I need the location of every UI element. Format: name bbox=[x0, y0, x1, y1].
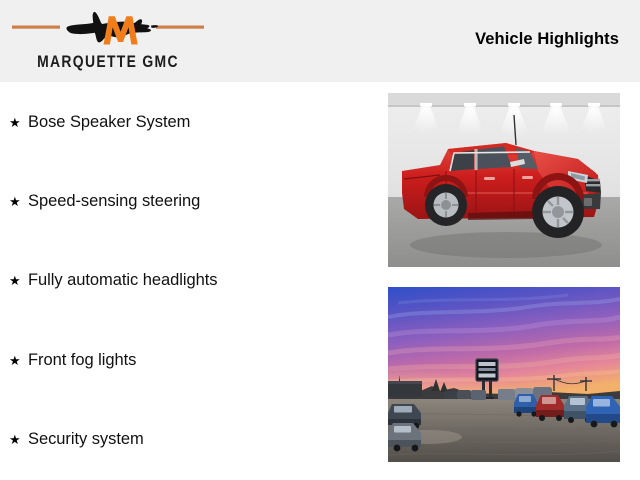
red-pickup-truck-studio-photo[interactable] bbox=[388, 93, 620, 267]
list-item: ★ Bose Speaker System bbox=[9, 110, 190, 134]
page-header: MARQUETTE GMC Vehicle Highlights bbox=[0, 0, 640, 82]
michigan-upper-peninsula-with-m-logo bbox=[8, 4, 208, 52]
star-icon: ★ bbox=[9, 433, 28, 446]
star-icon: ★ bbox=[9, 354, 28, 367]
list-item: ★ Speed-sensing steering bbox=[9, 189, 200, 213]
list-item: ★ Fully automatic headlights bbox=[9, 268, 217, 292]
list-item-label: Front fog lights bbox=[28, 351, 136, 370]
star-icon: ★ bbox=[9, 116, 28, 129]
brand-logo[interactable]: MARQUETTE GMC bbox=[8, 4, 208, 78]
list-item-label: Security system bbox=[28, 430, 144, 449]
vehicle-highlights-list: ★ Bose Speaker System ★ Speed-sensing st… bbox=[0, 82, 380, 480]
star-icon: ★ bbox=[9, 195, 28, 208]
list-item: ★ Security system bbox=[9, 427, 144, 451]
brand-name: MARQUETTE GMC bbox=[26, 52, 190, 72]
list-item-label: Speed-sensing steering bbox=[28, 192, 200, 211]
page-title: Vehicle Highlights bbox=[475, 30, 619, 49]
dealership-lot-sunset-photo[interactable] bbox=[388, 287, 620, 462]
list-item: ★ Front fog lights bbox=[9, 348, 136, 372]
list-item-label: Bose Speaker System bbox=[28, 113, 190, 132]
list-item-label: Fully automatic headlights bbox=[28, 271, 217, 290]
star-icon: ★ bbox=[9, 274, 28, 287]
